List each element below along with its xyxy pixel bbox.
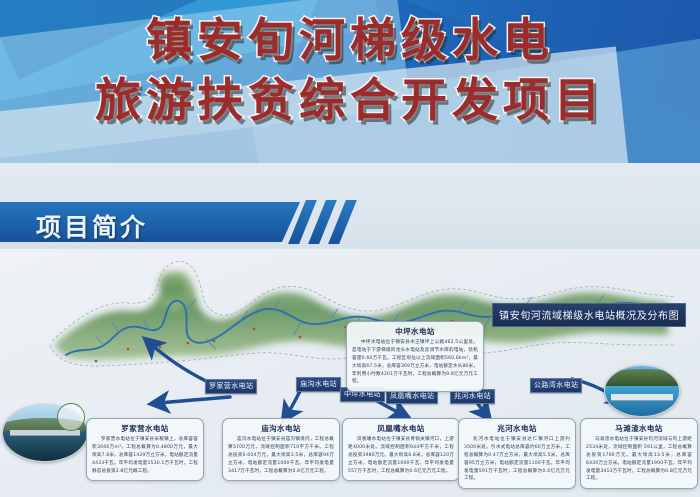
green-emblem-icon — [57, 403, 85, 431]
section-banner-label: 项目简介 — [36, 208, 148, 244]
map-title: 镇安旬河流域梯级水电站概况及分布图 — [492, 303, 686, 327]
photo-water — [605, 386, 679, 416]
callout-zhaohe[interactable]: 兆河水电站 兆河水电站位于镇安县达仁镇河口上游约3500米处。引水式电站总库容约… — [458, 418, 576, 489]
poster-title-line1: 镇安旬河梯级水电 — [0, 16, 700, 66]
poster-title: 镇安旬河梯级水电 旅游扶贫综合开发项目 — [0, 10, 700, 125]
callout-matan[interactable]: 马滩渣水电站 马滩渣水电站位于镇安县旬河流域与旬上游距2534米处，流域控制面积… — [580, 418, 698, 489]
callout-title: 罗家营水电站 — [92, 423, 198, 434]
callout-title: 中坪水电站 — [352, 326, 478, 337]
callout-body: 马滩渣水电站位于镇安县旬河流域与旬上游距2534米处，流域控制面积 591公里，… — [586, 436, 692, 483]
callout-miaogou[interactable]: 庙沟水电站 庙沟水电站位于镇安县庙沟镇境内，工程总概算5700万元，流域控制面积… — [222, 418, 340, 481]
map-label-gongluwan[interactable]: 公路湾水电站 — [530, 378, 582, 393]
arrow-miaogou — [288, 391, 300, 413]
photo-water — [3, 431, 87, 461]
poster-root: 镇安旬河梯级水电 旅游扶贫综合开发项目 项目简介 镇安旬河流域梯级水电站概况及分… — [0, 0, 700, 497]
callout-title: 凤凰嘴水电站 — [348, 423, 454, 434]
callout-title: 马滩渣水电站 — [586, 423, 692, 434]
callout-body: 庙沟水电站位于镇安县庙沟镇境内，工程总概算5700万元，流域控制面积710平方千… — [228, 436, 334, 475]
callout-fenghuangzui[interactable]: 凤凰嘴水电站 凤凰嘴水电站位于镇安县青铜关镇河口，上游距4000米处。流域控制面… — [342, 418, 460, 481]
callout-title: 兆河水电站 — [464, 423, 570, 434]
callout-title: 庙沟水电站 — [228, 423, 334, 434]
callout-body: 凤凰嘴水电站位于镇安县青铜关镇河口，上游距4000米处。流域控制面积644平方千… — [348, 436, 454, 475]
callout-body: 兆河水电站位于镇安县达仁镇河口上游约3500米处。引水式电站总库容约60万立方米… — [464, 436, 570, 483]
poster-header: 镇安旬河梯级水电 旅游扶贫综合开发项目 — [0, 0, 700, 163]
arrow-luojiaying — [160, 397, 230, 403]
callout-body: 中坪水电站位于镇安县木王镇坪上公路462.5公里处，是电站于下游梯级的龙头水电站… — [352, 339, 478, 386]
callout-luojiaying[interactable]: 罗家营水电站 罗家营水电站位于镇安县米粮镇上，总库容容积3046万m³，工程总概… — [86, 418, 204, 481]
photo-hill — [604, 369, 680, 387]
poster-title-line2: 旅游扶贫综合开发项目 — [0, 76, 700, 126]
map-label-luojiaying[interactable]: 罗家营水电站 — [205, 379, 257, 394]
map-label-miaogou[interactable]: 庙沟水电站 — [296, 377, 341, 392]
photo-reservoir-right — [604, 365, 680, 417]
callout-body: 罗家营水电站位于镇安县米粮镇上，总库容容积3046万m³，工程总概算为0.480… — [92, 436, 198, 475]
photo-dam-crest — [611, 394, 673, 400]
callout-zhongping[interactable]: 中坪水电站 中坪水电站位于镇安县木王镇坪上公路462.5公里处，是电站于下游梯级… — [346, 321, 484, 392]
